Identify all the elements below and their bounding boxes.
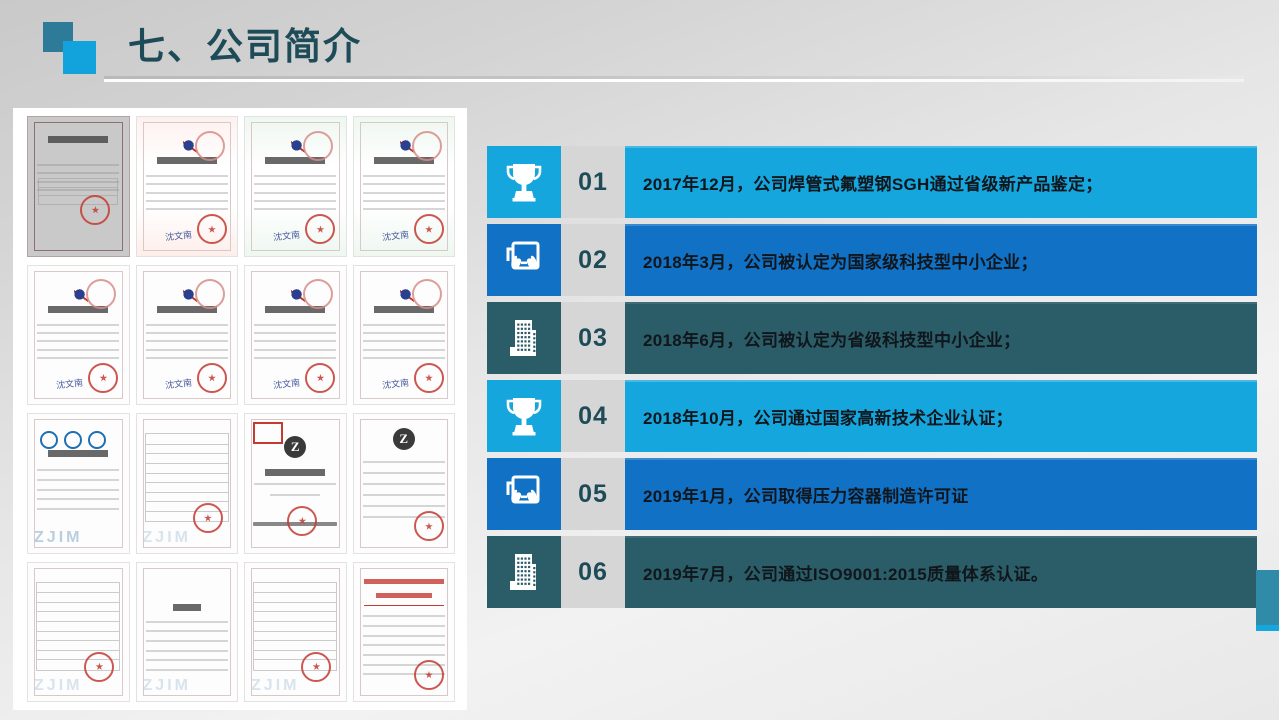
building-icon bbox=[487, 536, 561, 608]
certificate-thumbnail: 沈文南 bbox=[136, 116, 239, 257]
milestone-number: 03 bbox=[561, 302, 625, 374]
tablet-hands-icon bbox=[487, 458, 561, 530]
tablet-hands-icon bbox=[487, 224, 561, 296]
certificate-thumbnail bbox=[353, 562, 456, 703]
decor-accent-square-bottom bbox=[1256, 625, 1279, 631]
milestone-row[interactable]: 012017年12月，公司焊管式氟塑钢SGH通过省级新产品鉴定； bbox=[487, 146, 1257, 218]
certificates-panel: 沈文南沈文南沈文南沈文南沈文南沈文南沈文南ZJIMZJIMZZZJIMZJIMZ… bbox=[13, 108, 467, 710]
milestones-list: 012017年12月，公司焊管式氟塑钢SGH通过省级新产品鉴定；022018年3… bbox=[487, 146, 1257, 614]
trophy-icon bbox=[487, 380, 561, 452]
milestone-number: 06 bbox=[561, 536, 625, 608]
certificate-thumbnail: Z bbox=[353, 413, 456, 554]
milestone-text: 2018年6月，公司被认定为省级科技型中小企业； bbox=[625, 302, 1257, 374]
certificate-thumbnail: ZJIM bbox=[244, 562, 347, 703]
milestone-row[interactable]: 042018年10月，公司通过国家高新技术企业认证； bbox=[487, 380, 1257, 452]
milestone-text: 2019年7月，公司通过ISO9001:2015质量体系认证。 bbox=[625, 536, 1257, 608]
certificate-thumbnail: 沈文南 bbox=[136, 265, 239, 406]
milestone-row[interactable]: 052019年1月，公司取得压力容器制造许可证 bbox=[487, 458, 1257, 530]
certificate-thumbnail: Z bbox=[244, 413, 347, 554]
milestone-text: 2019年1月，公司取得压力容器制造许可证 bbox=[625, 458, 1257, 530]
certificate-thumbnail: 沈文南 bbox=[27, 265, 130, 406]
milestone-row[interactable]: 032018年6月，公司被认定为省级科技型中小企业； bbox=[487, 302, 1257, 374]
milestone-number: 01 bbox=[561, 146, 625, 218]
certificate-thumbnail: ZJIM bbox=[136, 562, 239, 703]
milestone-row[interactable]: 062019年7月，公司通过ISO9001:2015质量体系认证。 bbox=[487, 536, 1257, 608]
milestone-text: 2018年3月，公司被认定为国家级科技型中小企业； bbox=[625, 224, 1257, 296]
header-divider-highlight bbox=[104, 79, 1244, 82]
certificate-thumbnail: 沈文南 bbox=[353, 116, 456, 257]
decor-accent-square bbox=[1256, 570, 1279, 625]
milestone-number: 04 bbox=[561, 380, 625, 452]
certificate-thumbnail: ZJIM bbox=[27, 562, 130, 703]
certificate-thumbnail bbox=[27, 116, 130, 257]
milestone-number: 02 bbox=[561, 224, 625, 296]
certificate-thumbnail: 沈文南 bbox=[353, 265, 456, 406]
milestone-text: 2018年10月，公司通过国家高新技术企业认证； bbox=[625, 380, 1257, 452]
certificate-thumbnail: ZJIM bbox=[27, 413, 130, 554]
milestone-row[interactable]: 022018年3月，公司被认定为国家级科技型中小企业； bbox=[487, 224, 1257, 296]
certificate-grid: 沈文南沈文南沈文南沈文南沈文南沈文南沈文南ZJIMZJIMZZZJIMZJIMZ… bbox=[27, 116, 455, 702]
milestone-number: 05 bbox=[561, 458, 625, 530]
certificate-thumbnail: ZJIM bbox=[136, 413, 239, 554]
certificate-thumbnail: 沈文南 bbox=[244, 265, 347, 406]
milestone-text: 2017年12月，公司焊管式氟塑钢SGH通过省级新产品鉴定； bbox=[625, 146, 1257, 218]
certificate-thumbnail: 沈文南 bbox=[244, 116, 347, 257]
trophy-icon bbox=[487, 146, 561, 218]
decor-square-light-icon bbox=[63, 41, 96, 74]
building-icon bbox=[487, 302, 561, 374]
page-title: 七、公司简介 bbox=[128, 16, 362, 70]
slide-header: 七、公司简介 bbox=[0, 0, 1279, 95]
